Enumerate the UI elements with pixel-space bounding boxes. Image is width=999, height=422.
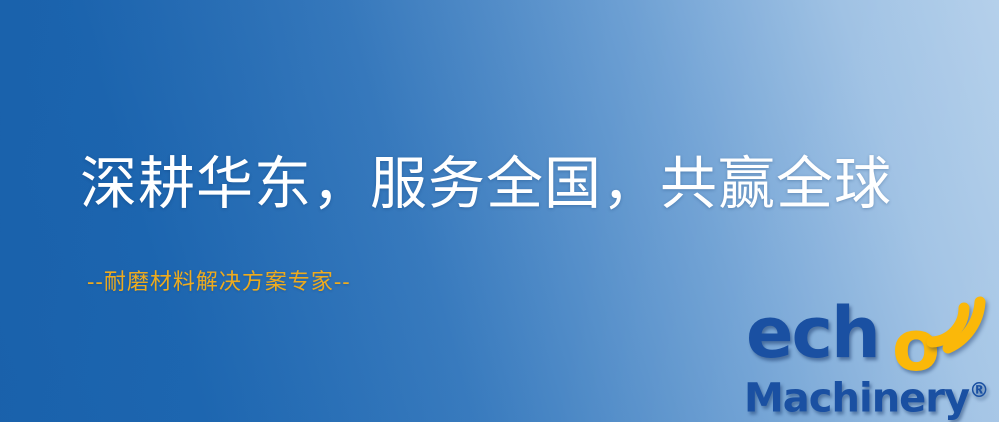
registered-trademark-icon: ® — [969, 378, 989, 402]
banner-subtitle: --耐磨材料解决方案专家-- — [87, 268, 351, 298]
logo-tagline: Machinery® — [744, 368, 989, 420]
hero-banner: 深耕华东，服务全国，共赢全球 --耐磨材料解决方案专家-- ech o Mach… — [0, 0, 999, 422]
banner-headline: 深耕华东，服务全国，共赢全球 — [80, 150, 892, 218]
logo-wordmark: ech o — [742, 296, 992, 370]
signal-waves-icon — [918, 292, 988, 356]
company-logo[interactable]: ech o Machinery® — [742, 296, 992, 420]
logo-tagline-text: Machinery — [744, 375, 969, 421]
logo-text-ech: ech — [746, 298, 879, 368]
